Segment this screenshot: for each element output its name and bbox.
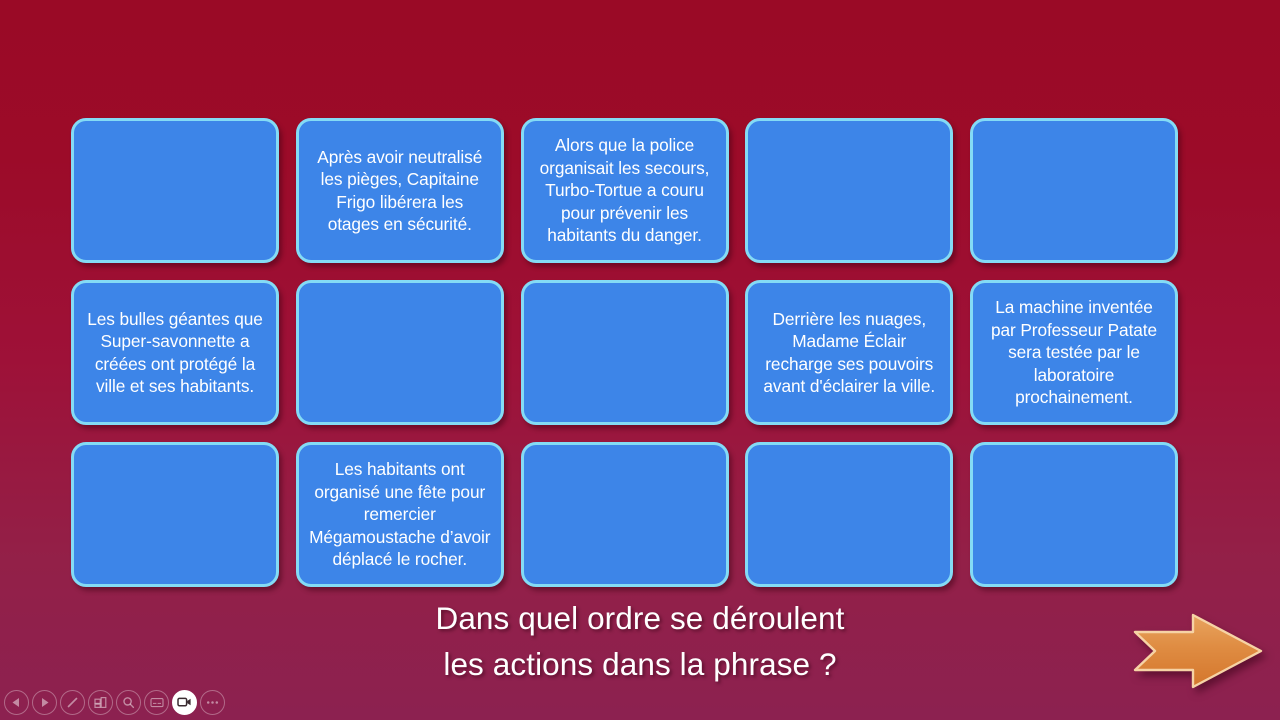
- sentence-card-text: La machine inventée par Professeur Patat…: [983, 296, 1165, 408]
- sentence-card-text: Après avoir neutralisé les pièges, Capit…: [309, 146, 491, 236]
- sentence-card[interactable]: [970, 118, 1178, 263]
- previous-slide-icon[interactable]: [4, 690, 29, 715]
- sentence-card[interactable]: [71, 442, 279, 587]
- question-text: Dans quel ordre se déroulent les actions…: [0, 596, 1280, 688]
- sentence-card-text: Derrière les nuages, Madame Éclair recha…: [758, 308, 940, 398]
- sentence-card-grid: Après avoir neutralisé les pièges, Capit…: [71, 118, 1178, 587]
- sentence-card[interactable]: [970, 442, 1178, 587]
- sentence-card[interactable]: La machine inventée par Professeur Patat…: [970, 280, 1178, 425]
- sentence-card-text: Alors que la police organisait les secou…: [534, 134, 716, 246]
- slide-canvas: Après avoir neutralisé les pièges, Capit…: [0, 0, 1280, 720]
- sentence-card-text: Les habitants ont organisé une fête pour…: [309, 458, 491, 570]
- sentence-card[interactable]: [521, 442, 729, 587]
- camera-icon[interactable]: [172, 690, 197, 715]
- next-arrow-icon[interactable]: [1133, 612, 1263, 690]
- sentence-card[interactable]: [521, 280, 729, 425]
- sentence-card[interactable]: Après avoir neutralisé les pièges, Capit…: [296, 118, 504, 263]
- subtitles-icon[interactable]: [144, 690, 169, 715]
- zoom-icon[interactable]: [116, 690, 141, 715]
- sentence-card[interactable]: Les bulles géantes que Super-savonnette …: [71, 280, 279, 425]
- all-slides-icon[interactable]: [88, 690, 113, 715]
- sentence-card[interactable]: Alors que la police organisait les secou…: [521, 118, 729, 263]
- sentence-card[interactable]: Derrière les nuages, Madame Éclair recha…: [745, 280, 953, 425]
- presenter-toolbar[interactable]: [4, 688, 225, 716]
- sentence-card[interactable]: Les habitants ont organisé une fête pour…: [296, 442, 504, 587]
- sentence-card[interactable]: [71, 118, 279, 263]
- sentence-card-text: Les bulles géantes que Super-savonnette …: [84, 308, 266, 398]
- sentence-card[interactable]: [745, 442, 953, 587]
- sentence-card[interactable]: [745, 118, 953, 263]
- more-options-icon[interactable]: [200, 690, 225, 715]
- next-slide-icon[interactable]: [32, 690, 57, 715]
- pen-icon[interactable]: [60, 690, 85, 715]
- sentence-card[interactable]: [296, 280, 504, 425]
